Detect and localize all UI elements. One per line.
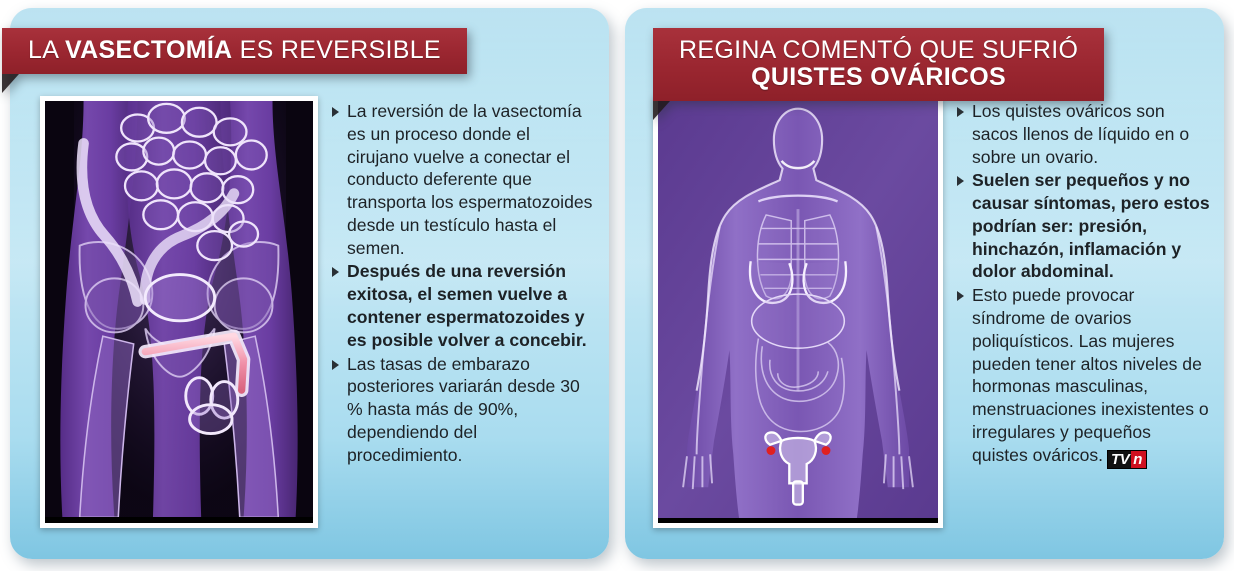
female-body-xray-illustration bbox=[653, 96, 943, 528]
panel-content-vasectomy: La reversión de la vasectomía es un proc… bbox=[10, 96, 609, 537]
list-item-text: Esto puede provocar síndrome de ovarios … bbox=[972, 285, 1209, 464]
cyst-marker-left bbox=[767, 446, 776, 455]
male-pelvis-xray-illustration bbox=[40, 96, 318, 528]
banner-text-before: LA bbox=[28, 36, 65, 64]
banner-body: REGINA COMENTÓ QUE SUFRIÓ QUISTES OVÁRIC… bbox=[653, 28, 1104, 101]
banner-line-2: QUISTES OVÁRICOS bbox=[679, 64, 1078, 91]
title-banner-vasectomy: LA VASECTOMÍA ES REVERSIBLE bbox=[2, 28, 467, 74]
list-item: Después de una reversión exitosa, el sem… bbox=[332, 260, 595, 351]
infographic-board: LA VASECTOMÍA ES REVERSIBLE bbox=[0, 0, 1234, 571]
banner-text-bold: VASECTOMÍA bbox=[65, 36, 232, 64]
banner-text-after: ES REVERSIBLE bbox=[232, 36, 440, 64]
banner-line: LA VASECTOMÍA ES REVERSIBLE bbox=[28, 37, 441, 64]
bullet-list-vasectomy: La reversión de la vasectomía es un proc… bbox=[332, 96, 595, 537]
banner-fold-corner bbox=[2, 74, 19, 93]
panel-vasectomy: LA VASECTOMÍA ES REVERSIBLE bbox=[10, 8, 609, 559]
panel-content-ovarian-cysts: Los quistes ováricos son sacos llenos de… bbox=[625, 96, 1224, 537]
tvn-logo-tv: TV bbox=[1108, 451, 1131, 468]
list-item: Los quistes ováricos son sacos llenos de… bbox=[957, 100, 1210, 168]
banner-fold-corner bbox=[653, 101, 670, 120]
male-pelvis-figure-canvas bbox=[45, 101, 313, 517]
panel-ovarian-cysts: REGINA COMENTÓ QUE SUFRIÓ QUISTES OVÁRIC… bbox=[625, 8, 1224, 559]
female-body-figure-canvas bbox=[658, 101, 938, 518]
cyst-marker-right bbox=[822, 446, 831, 455]
banner-line-1: REGINA COMENTÓ QUE SUFRIÓ bbox=[679, 37, 1078, 64]
tvn-logo: TVn bbox=[1107, 450, 1147, 469]
list-item: La reversión de la vasectomía es un proc… bbox=[332, 100, 595, 259]
title-banner-ovarian-cysts: REGINA COMENTÓ QUE SUFRIÓ QUISTES OVÁRIC… bbox=[653, 28, 1104, 101]
tvn-logo-n: n bbox=[1131, 451, 1146, 468]
list-item: Las tasas de embarazo posteriores variar… bbox=[332, 353, 595, 467]
list-item: Suelen ser pequeños y no causar síntomas… bbox=[957, 169, 1210, 283]
bullet-list-ovarian-cysts: Los quistes ováricos son sacos llenos de… bbox=[957, 96, 1210, 537]
banner-body: LA VASECTOMÍA ES REVERSIBLE bbox=[2, 28, 467, 74]
list-item: Esto puede provocar síndrome de ovarios … bbox=[957, 284, 1210, 468]
